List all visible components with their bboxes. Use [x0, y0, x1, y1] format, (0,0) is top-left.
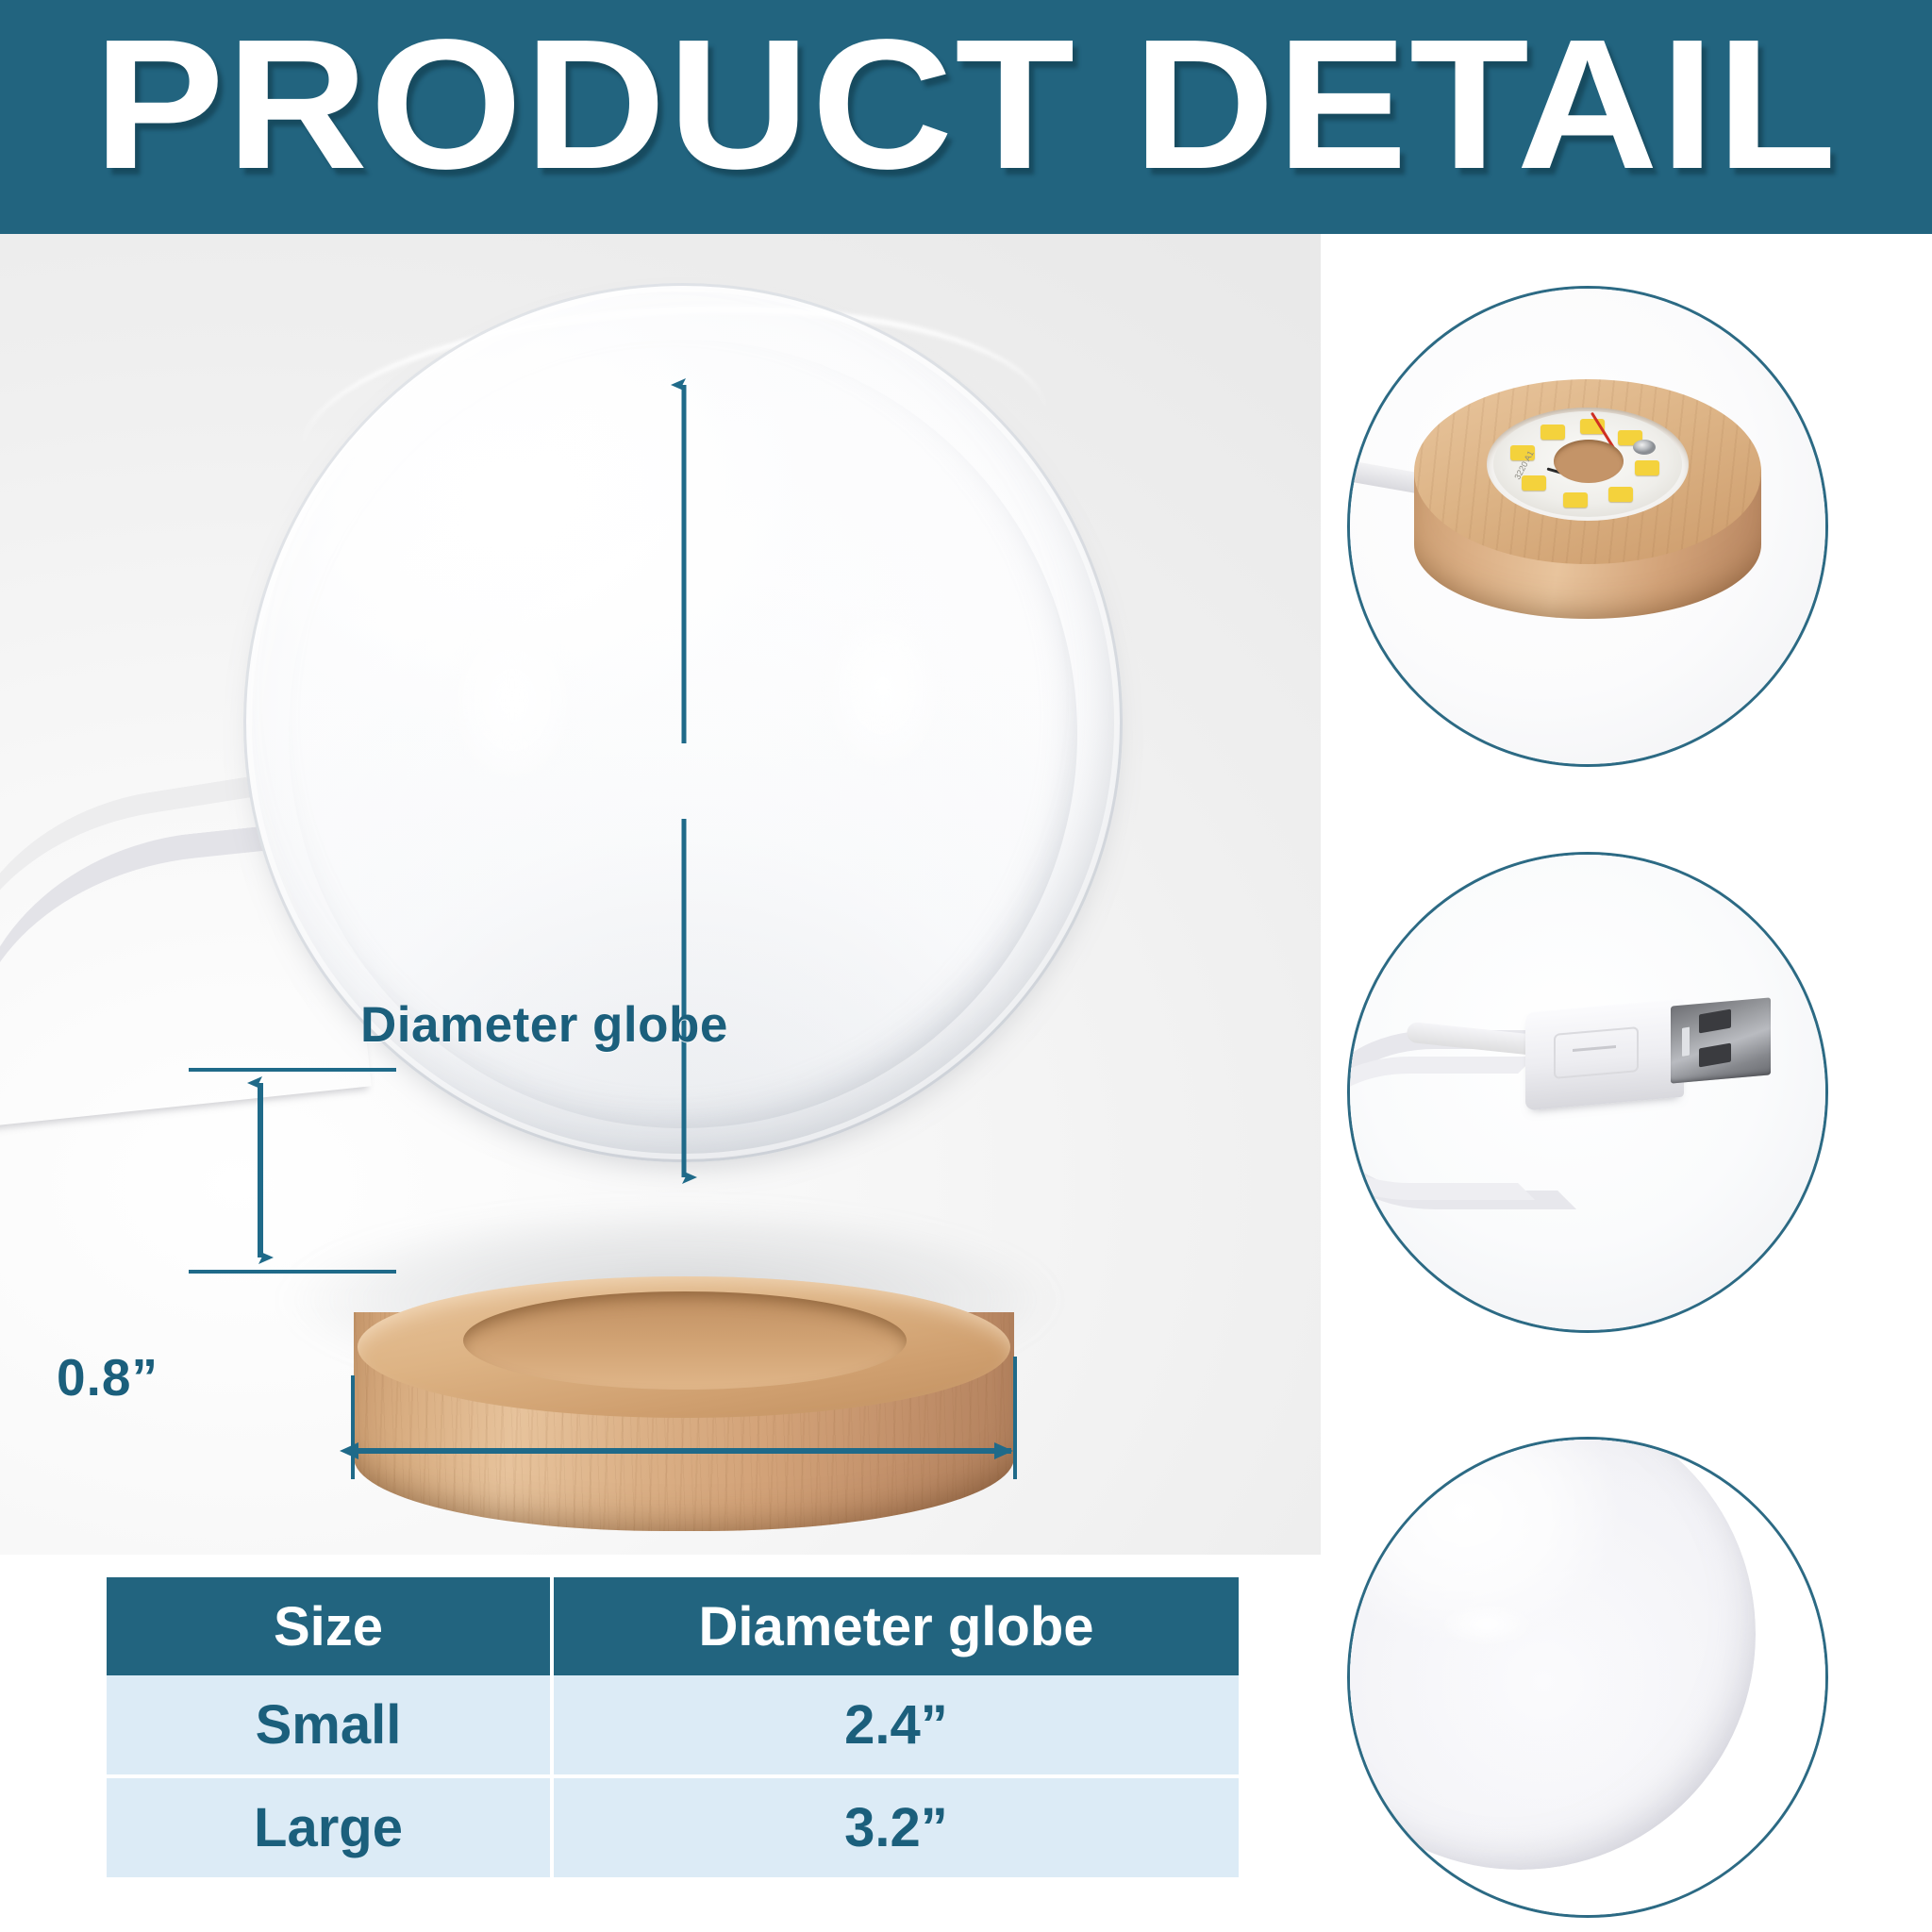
usb-metal-shell — [1671, 997, 1771, 1083]
led-chip — [1541, 425, 1565, 440]
usb-port-slot — [1699, 1009, 1731, 1034]
led-center-hole — [1554, 440, 1624, 483]
table-header-diameter: Diameter globe — [552, 1577, 1239, 1675]
table-header-row: Size Diameter globe — [107, 1577, 1239, 1675]
product-detail-infographic: PRODUCT DETAIL — [0, 0, 1932, 1932]
table-header-size: Size — [107, 1577, 552, 1675]
led-chip — [1608, 487, 1633, 502]
base-height-dimension-arrow — [189, 1070, 396, 1272]
header-banner: PRODUCT DETAIL — [0, 0, 1932, 234]
table-row: Small 2.4” — [107, 1675, 1239, 1776]
detail-circle-glass-globe — [1347, 1437, 1828, 1918]
table-cell-size: Large — [107, 1776, 552, 1877]
base-height-label: 0.8” — [57, 1347, 158, 1407]
usb-cable-loop-inner — [1347, 1057, 1535, 1200]
page-title: PRODUCT DETAIL — [0, 8, 1932, 202]
diameter-globe-label: Diameter globe — [360, 996, 728, 1054]
usb-port-slot — [1699, 1043, 1731, 1068]
led-chip — [1522, 475, 1546, 491]
size-table: Size Diameter globe Small 2.4” Large 3.2… — [107, 1577, 1239, 1877]
usb-contact-pin — [1682, 1027, 1690, 1057]
table-cell-diameter: 3.2” — [552, 1776, 1239, 1877]
table-cell-diameter: 2.4” — [552, 1675, 1239, 1776]
detail-circle-led-base: 3220 A1 — [1347, 286, 1828, 767]
led-chip — [1635, 460, 1659, 475]
led-screw — [1633, 440, 1656, 455]
detail-circle-usb-connector — [1347, 852, 1828, 1333]
table-row: Large 3.2” — [107, 1776, 1239, 1877]
main-product-photo: Diameter globe 0.8” 3.2” — [0, 234, 1321, 1555]
table-cell-size: Small — [107, 1675, 552, 1776]
dimension-annotations-layer — [0, 234, 1321, 1555]
led-chip — [1563, 492, 1588, 508]
base-width-dimension-arrow — [353, 1357, 1015, 1479]
globe-closeup-highlight — [1425, 1596, 1548, 1653]
usb-logo-plate — [1554, 1026, 1639, 1079]
